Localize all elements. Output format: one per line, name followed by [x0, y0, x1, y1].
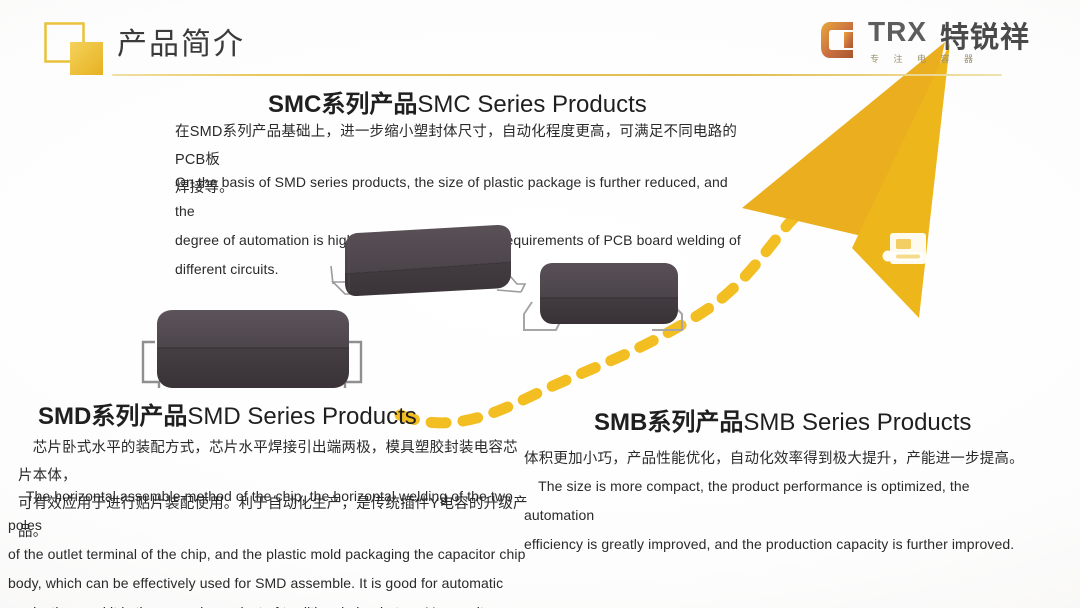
smd-paragraph-en: The horizontal assemble method of the ch… — [8, 482, 530, 608]
smc-capacitor-photo — [325, 222, 535, 312]
smd-capacitor-photo — [133, 300, 378, 400]
smc-title-cn: SMC系列产品 — [268, 91, 417, 118]
two-squares-icon — [44, 22, 106, 76]
page-title: 产品简介 — [117, 25, 245, 65]
smb-title-en: SMB Series Products — [743, 409, 971, 436]
smd-en-line: The horizontal assemble method of the ch… — [8, 482, 530, 540]
smb-title-cn: SMB系列产品 — [594, 409, 743, 436]
header-divider — [112, 74, 1002, 76]
slide-header: 产品简介 TRX 特锐祥 专 注 电 容 器 — [0, 0, 1080, 84]
smb-paragraph-en: The size is more compact, the product pe… — [524, 472, 1029, 559]
logo-brand-cn: 特锐祥 — [940, 14, 1030, 56]
logo-tagline: 专 注 电 容 器 — [870, 52, 979, 65]
smb-cn-line: 体积更加小巧，产品性能优化，自动化效率得到极大提升，产能进一步提高。 — [524, 445, 1024, 473]
document-hand-icon — [883, 233, 927, 264]
smc-cn-line: 在SMD系列产品基础上，进一步缩小塑封体尺寸，自动化程度更高，可满足不同电路的P… — [175, 118, 755, 174]
brand-logo[interactable]: TRX 特锐祥 专 注 电 容 器 — [820, 16, 1045, 72]
smb-paragraph-cn: 体积更加小巧，产品性能优化，自动化效率得到极大提升，产能进一步提高。 — [524, 445, 1024, 473]
smd-en-line: body, which can be effectively used for … — [8, 569, 530, 598]
smc-en-line: On the basis of SMD series products, the… — [175, 168, 745, 226]
smc-section-title: SMC系列产品SMC Series Products — [268, 90, 647, 120]
trx-c-mark — [820, 20, 862, 60]
smd-en-line: production, and it is the upgrade produc… — [8, 598, 530, 608]
smd-title-cn: SMD系列产品 — [38, 403, 187, 430]
smb-en-line: The size is more compact, the product pe… — [524, 472, 1029, 530]
logo-brand-latin: TRX — [868, 16, 927, 48]
slide-canvas: 产品简介 TRX 特锐祥 专 注 电 容 器 SMC系列产品SMC Series — [0, 0, 1080, 608]
smc-title-en: SMC Series Products — [417, 91, 646, 118]
smd-en-line: of the outlet terminal of the chip, and … — [8, 540, 530, 569]
smd-section-title: SMD系列产品SMD Series Products — [38, 402, 417, 432]
paper-plane-graphic — [700, 40, 1080, 340]
smb-en-line: efficiency is greatly improved, and the … — [524, 530, 1029, 559]
smd-title-en: SMD Series Products — [187, 403, 416, 430]
smb-capacitor-photo — [522, 252, 712, 342]
smb-section-title: SMB系列产品SMB Series Products — [594, 408, 971, 438]
